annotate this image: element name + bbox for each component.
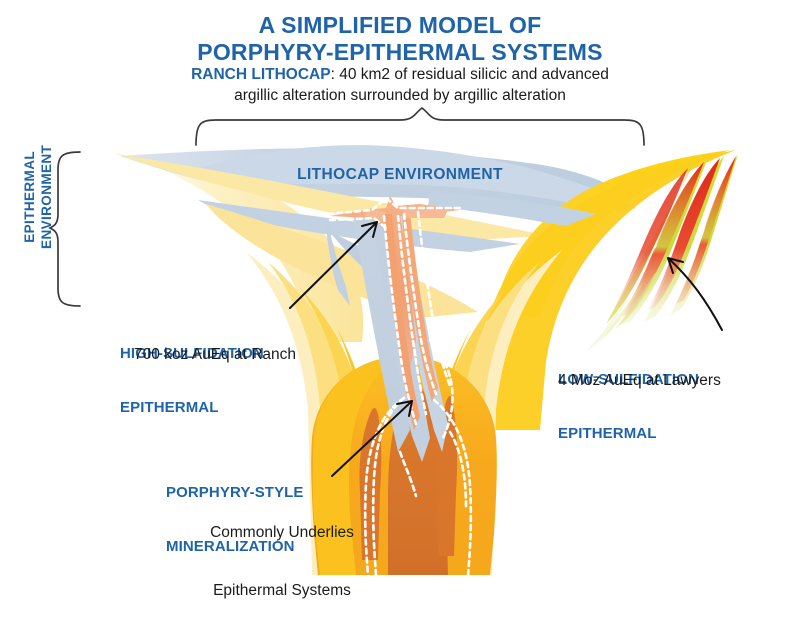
subtitle-line-1: RANCH LITHOCAP: 40 km2 of residual silic… <box>60 66 740 85</box>
top-brace <box>196 108 644 145</box>
epithermal-environment-line-2: ENVIRONMENT <box>39 112 56 282</box>
callout-low-sulfidation-detail: 4 Moz AuEq at Lawyers <box>558 371 721 390</box>
lithocap-environment-label: LITHOCAP ENVIRONMENT <box>0 166 800 185</box>
callout-porphyry-detail-line-1: Commonly Underlies <box>182 523 382 542</box>
page-title-line-2: PORPHYRY-EPITHERMAL SYSTEMS <box>0 39 800 67</box>
subtitle-rest: : 40 km2 of residual silicic and advance… <box>331 66 609 83</box>
epithermal-environment-line-1: EPITHERMAL <box>22 112 39 282</box>
diagram-canvas: A SIMPLIFIED MODEL OF PORPHYRY-EPITHERMA… <box>0 0 800 612</box>
callout-porphyry-detail: Commonly Underlies Epithermal Systems <box>182 484 382 639</box>
page-title-line-1: A SIMPLIFIED MODEL OF <box>0 12 800 40</box>
subtitle-line-2: argillic alteration surrounded by argill… <box>60 87 740 106</box>
subtitle-emphasis: RANCH LITHOCAP <box>191 66 331 83</box>
epithermal-environment-label: EPITHERMAL ENVIRONMENT <box>22 112 56 282</box>
callout-high-sulfidation-line-2: EPITHERMAL <box>120 399 264 417</box>
callout-high-sulfidation-detail: 700 koz AuEq at Ranch <box>134 345 296 364</box>
callout-porphyry-detail-line-2: Epithermal Systems <box>182 581 382 600</box>
callout-low-sulfidation-heading: LOW-SULFIDATION EPITHERMAL <box>558 334 699 480</box>
callout-low-sulfidation-line-2: EPITHERMAL <box>558 425 699 443</box>
callout-high-sulfidation-heading: HIGH-SULFIDATION EPITHERMAL <box>120 308 264 454</box>
